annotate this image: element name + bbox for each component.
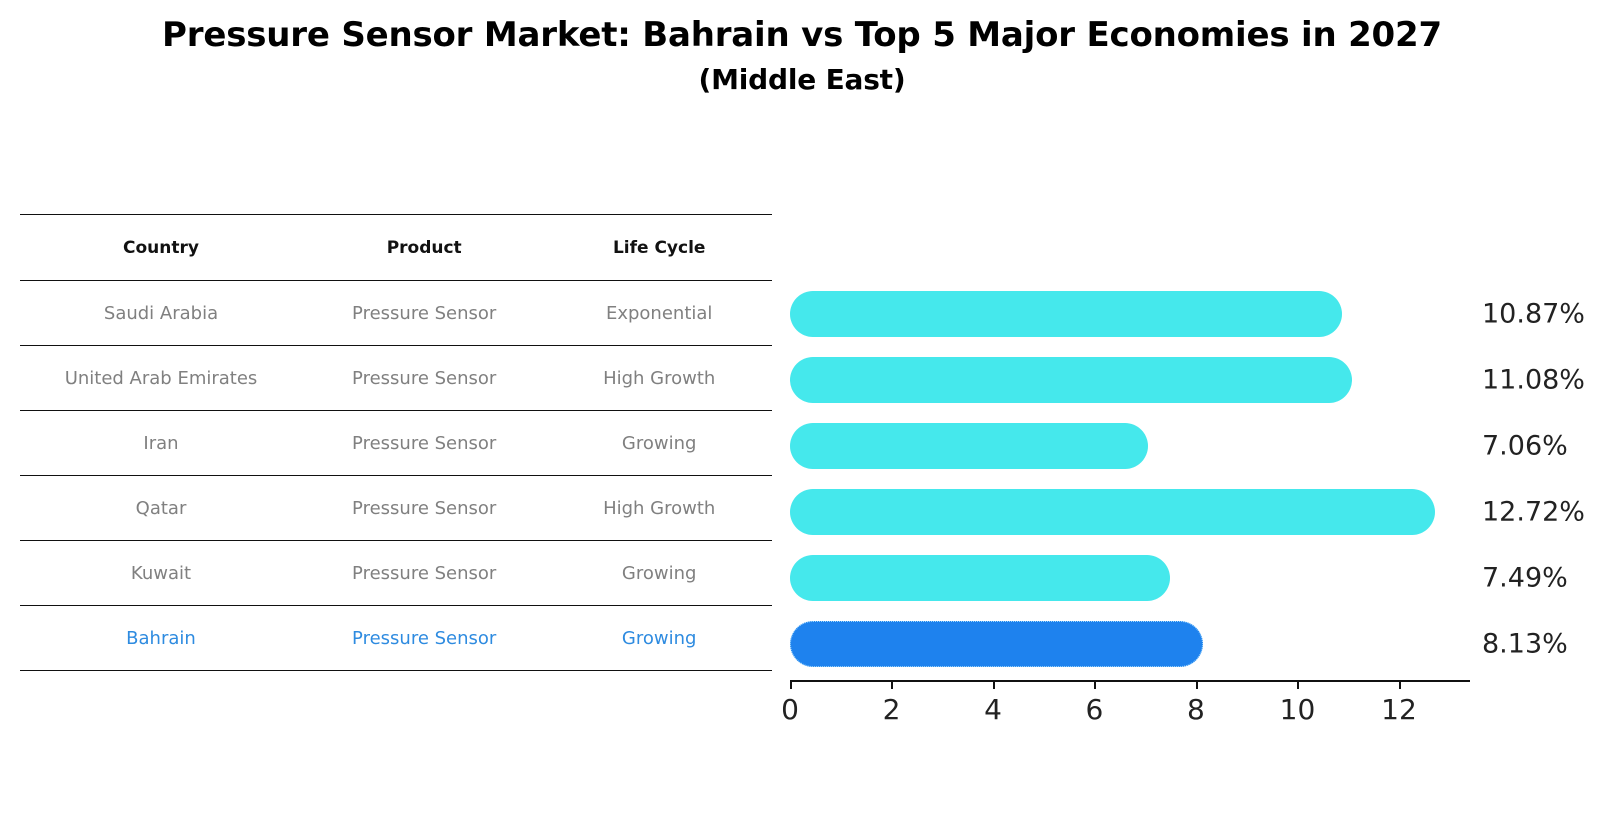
table-row: IranPressure SensorGrowing <box>20 411 772 476</box>
cell-country: Kuwait <box>20 541 302 606</box>
table-row: BahrainPressure SensorGrowing <box>20 606 772 671</box>
x-axis-tick <box>1399 680 1401 689</box>
bar-chart: 10.87%11.08%7.06%12.72%7.49%8.13%0246810… <box>790 214 1490 744</box>
x-axis-tick-label: 10 <box>1280 693 1316 726</box>
x-axis-tick-label: 0 <box>781 693 799 726</box>
cell-life-cycle: Growing <box>546 541 772 606</box>
bar-value-label: 10.87% <box>1482 299 1585 330</box>
x-axis-tick <box>790 680 792 689</box>
x-axis-tick <box>1297 680 1299 689</box>
cell-country: Bahrain <box>20 606 302 671</box>
bar-united-arab-emirates[interactable] <box>790 357 1352 403</box>
cell-country: Saudi Arabia <box>20 281 302 346</box>
table-body: Saudi ArabiaPressure SensorExponentialUn… <box>20 281 772 671</box>
cell-life-cycle: Growing <box>546 606 772 671</box>
x-axis-tick <box>1196 680 1198 689</box>
cell-product: Pressure Sensor <box>302 411 546 476</box>
cell-life-cycle: Exponential <box>546 281 772 346</box>
bar-row: 11.08% <box>790 357 1470 403</box>
cell-life-cycle: High Growth <box>546 476 772 541</box>
table-head: Country Product Life Cycle <box>20 215 772 281</box>
bar-row: 12.72% <box>790 489 1470 535</box>
table: Country Product Life Cycle Saudi ArabiaP… <box>20 214 772 671</box>
x-axis-tick <box>1094 680 1096 689</box>
x-axis-tick-label: 8 <box>1187 693 1205 726</box>
x-axis-tick <box>891 680 893 689</box>
cell-product: Pressure Sensor <box>302 606 546 671</box>
table-header-row: Country Product Life Cycle <box>20 215 772 281</box>
x-axis-tick <box>993 680 995 689</box>
chart-page: Pressure Sensor Market: Bahrain vs Top 5… <box>0 0 1604 823</box>
x-axis-tick-label: 12 <box>1381 693 1417 726</box>
title-line-2: (Middle East) <box>0 58 1604 102</box>
title-line-1: Pressure Sensor Market: Bahrain vs Top 5… <box>0 12 1604 58</box>
bar-iran[interactable] <box>790 423 1148 469</box>
bar-bahrain[interactable] <box>790 621 1203 667</box>
x-axis-tick-label: 2 <box>883 693 901 726</box>
column-header-country: Country <box>20 215 302 281</box>
cell-product: Pressure Sensor <box>302 476 546 541</box>
bar-row: 8.13% <box>790 621 1470 667</box>
column-header-product: Product <box>302 215 546 281</box>
table-row: United Arab EmiratesPressure SensorHigh … <box>20 346 772 411</box>
bar-row: 7.49% <box>790 555 1470 601</box>
cell-country: Iran <box>20 411 302 476</box>
cell-product: Pressure Sensor <box>302 346 546 411</box>
page-title: Pressure Sensor Market: Bahrain vs Top 5… <box>0 12 1604 102</box>
cell-life-cycle: High Growth <box>546 346 772 411</box>
bar-row: 7.06% <box>790 423 1470 469</box>
bar-value-label: 11.08% <box>1482 365 1585 396</box>
cell-product: Pressure Sensor <box>302 281 546 346</box>
bar-saudi-arabia[interactable] <box>790 291 1342 337</box>
bar-kuwait[interactable] <box>790 555 1170 601</box>
bar-value-label: 7.06% <box>1482 431 1568 462</box>
table-row: KuwaitPressure SensorGrowing <box>20 541 772 606</box>
cell-country: Qatar <box>20 476 302 541</box>
cell-life-cycle: Growing <box>546 411 772 476</box>
table-row: Saudi ArabiaPressure SensorExponential <box>20 281 772 346</box>
x-axis-tick-label: 4 <box>984 693 1002 726</box>
bar-qatar[interactable] <box>790 489 1435 535</box>
cell-product: Pressure Sensor <box>302 541 546 606</box>
plot-area: 10.87%11.08%7.06%12.72%7.49%8.13%0246810… <box>790 214 1470 680</box>
bar-value-label: 8.13% <box>1482 629 1568 660</box>
bar-value-label: 12.72% <box>1482 497 1585 528</box>
bar-row: 10.87% <box>790 291 1470 337</box>
country-table: Country Product Life Cycle Saudi ArabiaP… <box>20 214 772 671</box>
table-row: QatarPressure SensorHigh Growth <box>20 476 772 541</box>
bar-value-label: 7.49% <box>1482 563 1568 594</box>
column-header-life-cycle: Life Cycle <box>546 215 772 281</box>
x-axis-tick-label: 6 <box>1086 693 1104 726</box>
cell-country: United Arab Emirates <box>20 346 302 411</box>
